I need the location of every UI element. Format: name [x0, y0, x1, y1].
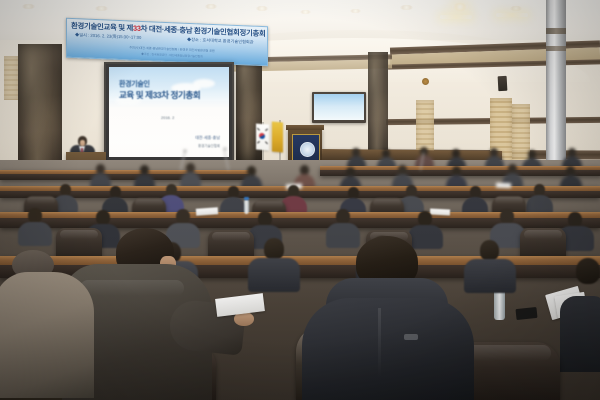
ceiling-downlight: [350, 9, 361, 13]
slide-date: 2016. 2: [161, 115, 174, 120]
taupe-coat-body: [0, 272, 94, 398]
smartphone: [515, 307, 537, 320]
podium-top-surface: [286, 125, 324, 130]
attendee-taupe-coat: [0, 250, 104, 400]
ceiling-downlight: [256, 6, 268, 11]
ceiling-downlight: [510, 6, 522, 11]
attendee-head: [176, 209, 190, 224]
attendee-head: [480, 240, 499, 261]
attendee-head: [500, 209, 514, 224]
conference-hall-photo: 환경기술인교육 및 제33차 대전·세종·충남 환경기술인협회정기총회 ◆일시 …: [0, 0, 600, 400]
attendee-head: [576, 258, 600, 284]
parka-seam: [378, 308, 381, 378]
attendee-torso: [560, 296, 600, 372]
parka-body: [302, 298, 474, 400]
wall-monitor: [312, 92, 366, 123]
ceiling-downlight-bright: [452, 3, 468, 11]
slide-cloud: [193, 79, 215, 88]
slide-heading-line2: 교육 및 제33차 정기총회: [119, 89, 200, 101]
event-banner: 환경기술인교육 및 제33차 대전·세종·충남 환경기술인협회정기총회 ◆일시 …: [66, 18, 268, 66]
banner-title-highlight: 33: [133, 24, 141, 33]
foreground-person-dark-parka: [300, 236, 480, 400]
banner-title-run: 환경기술인교육 및 제: [71, 21, 133, 33]
trigram-mark: [257, 128, 260, 131]
banner-place: ◆장소 : 호서대학교 환경기술인협회관: [187, 37, 254, 46]
ceiling-downlight: [22, 4, 35, 9]
pillar-band: [546, 28, 566, 34]
attendee-head: [28, 208, 42, 223]
attendee-head: [96, 210, 110, 225]
attendee-torso: [248, 258, 300, 292]
ceiling-downlight: [400, 5, 413, 10]
wall-emblem-icon: [422, 78, 429, 85]
attendee-head: [264, 238, 284, 260]
pillar-band: [546, 46, 566, 51]
zipper-pull-icon: [404, 334, 418, 340]
banner-title-run: 차 대전·세종·충남 환경기술인협회정기총회: [141, 24, 266, 38]
wood-slat-panel: [4, 56, 18, 100]
wall-speaker-icon: [498, 76, 508, 91]
wall-monitor-screen: [314, 94, 364, 120]
banner-date: ◆일시 : 2016. 2. 23(화)15:30~17:00: [75, 32, 141, 41]
trigram-mark: [265, 128, 268, 130]
ceiling-downlight: [205, 4, 217, 9]
slide-heading-line1: 환경기술인: [119, 79, 150, 89]
ceiling-downlight: [300, 10, 311, 14]
ceiling-strip-light: [496, 13, 528, 17]
ceiling-downlight: [95, 6, 108, 11]
ceiling-strip-light: [440, 15, 472, 19]
attendee-head: [336, 209, 350, 224]
